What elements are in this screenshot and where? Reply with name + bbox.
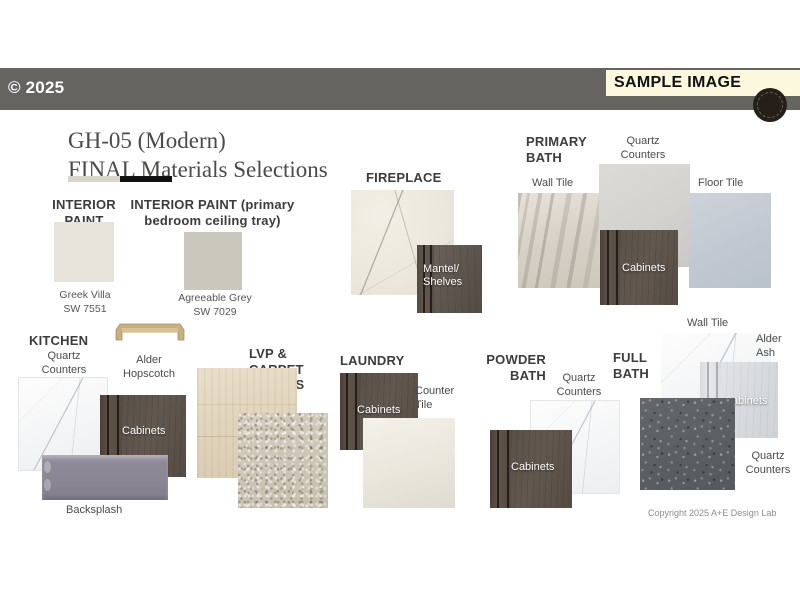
label-fireplace-mantel: Mantel/ Shelves: [423, 263, 482, 289]
swatch-fireplace-mantel: Mantel/ Shelves: [417, 245, 482, 313]
paint-caption-greek-villa: Greek Villa SW 7551: [44, 289, 126, 316]
cabinet-groove: [507, 430, 509, 508]
swatch-powder-bath-cabinets: Cabinets: [490, 430, 572, 508]
swatch-primary-bath-floor-tile: [689, 193, 771, 288]
cabinet-groove: [346, 373, 348, 450]
label-primary-bath-cabinets: Cabinets: [622, 262, 665, 275]
label-laundry-cabinets: Cabinets: [357, 404, 400, 417]
swatch-primary-bath-cabinets: Cabinets: [600, 230, 678, 305]
swatch-carpet-floor: [238, 413, 328, 508]
label-powder-bath-quartz: Quartz Counters: [543, 372, 615, 400]
cabinet-groove: [616, 230, 618, 305]
section-title-interior-paint-tray: INTERIOR PAINT (primary bedroom ceiling …: [130, 197, 295, 228]
label-full-bath-wall-tile: Wall Tile: [687, 317, 728, 331]
paint-chip-agreeable-grey: [184, 232, 242, 290]
swatch-kitchen-backsplash: [42, 455, 168, 500]
footer-copyright: Copyright 2025 A+E Design Lab: [648, 508, 776, 518]
swatch-full-bath-quartz: [640, 398, 735, 490]
section-title-kitchen: KITCHEN: [29, 333, 88, 349]
accent-bar-light: [68, 176, 120, 182]
section-title-primary-bath: PRIMARY BATH: [526, 134, 587, 165]
label-kitchen-cabinets: Cabinets: [122, 425, 165, 438]
label-primary-bath-wall-tile: Wall Tile: [532, 177, 573, 191]
label-kitchen-backsplash: Backsplash: [66, 504, 122, 518]
label-primary-bath-quartz: Quartz Counters: [604, 135, 682, 163]
label-powder-bath-cabinets: Cabinets: [511, 461, 554, 474]
paint-caption-agreeable-grey: Agreeable Grey SW 7029: [170, 292, 260, 319]
swatch-primary-bath-wall-tile: [518, 193, 603, 288]
sample-image-label: SAMPLE IMAGE: [606, 74, 741, 92]
section-title-fireplace: FIREPLACE: [366, 170, 441, 186]
label-kitchen-cabinet-finish: Alder Hopscotch: [110, 354, 188, 382]
section-title-powder-bath: POWDER BATH: [466, 352, 546, 383]
materials-selection-board: © 2025 SAMPLE IMAGE GH-05 (Modern) FINAL…: [0, 0, 800, 600]
paint-chip-greek-villa: [54, 222, 114, 282]
label-laundry-counter-tile: Counter Tile: [415, 385, 454, 413]
watermark-copyright: © 2025: [8, 78, 64, 98]
brass-bar-pull-icon: [112, 320, 188, 346]
section-title-full-bath: FULL BATH: [613, 350, 649, 381]
label-full-bath-quartz: Quartz Counters: [735, 450, 800, 478]
section-title-laundry: LAUNDRY: [340, 353, 404, 369]
accent-bar-dark: [120, 176, 172, 182]
title-accent-bars: [68, 176, 172, 182]
seal-stamp-icon: [753, 88, 787, 122]
cabinet-groove: [497, 430, 499, 508]
label-primary-bath-floor-tile: Floor Tile: [698, 177, 743, 191]
cabinet-groove: [607, 230, 609, 305]
label-kitchen-quartz: Quartz Counters: [26, 350, 102, 378]
swatch-laundry-counter-tile: [363, 418, 455, 508]
label-full-bath-cabinet-finish: Alder Ash: [756, 333, 800, 361]
